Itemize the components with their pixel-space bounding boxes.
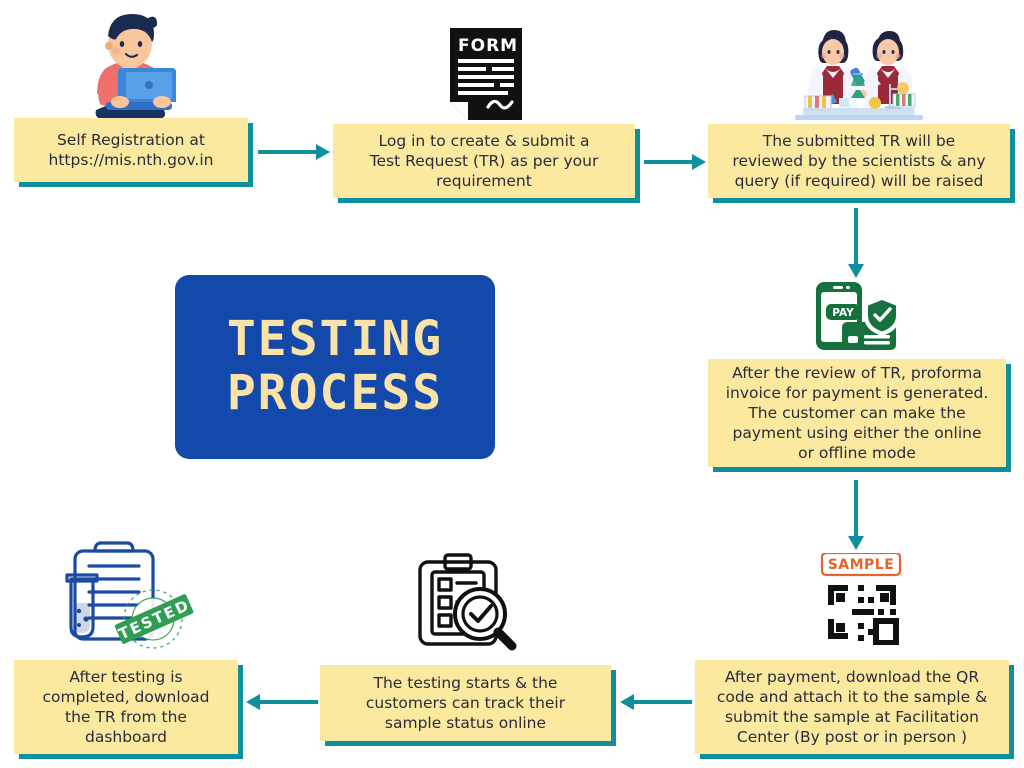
step-box-login-create-tr[interactable]: Log in to create & submit a Test Request… <box>333 124 635 198</box>
page-title: TESTING PROCESS <box>175 275 495 459</box>
clipboard-magnifier-icon <box>412 552 522 656</box>
arrow-step1-to-step2 <box>258 142 332 162</box>
scientists-in-lab-illustration <box>789 14 929 122</box>
sample-qr-code-icon: SAMPLE <box>818 553 906 645</box>
svg-text:FORM: FORM <box>458 36 518 56</box>
svg-text:SAMPLE: SAMPLE <box>828 557 895 573</box>
arrow-step5-to-step6 <box>620 692 692 712</box>
arrow-step6-to-step7 <box>246 692 318 712</box>
arrow-step2-to-step3 <box>644 152 708 172</box>
step-box-proforma-invoice[interactable]: After the review of TR, proforma invoice… <box>708 359 1006 467</box>
step-box-testing-track[interactable]: The testing starts & the customers can t… <box>320 665 611 741</box>
page-title-line-2: PROCESS <box>227 367 443 421</box>
person-with-laptop-illustration <box>66 6 194 124</box>
step-box-download-tr[interactable]: After testing is completed, download the… <box>14 660 238 754</box>
arrow-step3-to-step4 <box>845 208 867 280</box>
testing-process-flowchart: FORM <box>0 0 1024 768</box>
tested-clipboard-icon: TESTED <box>57 535 205 659</box>
step-box-self-registration[interactable]: Self Registration at https://mis.nth.gov… <box>14 118 248 182</box>
arrow-step4-to-step5 <box>845 480 867 552</box>
step-box-tr-review[interactable]: The submitted TR will be reviewed by the… <box>708 124 1010 198</box>
svg-text:PAY: PAY <box>832 307 854 319</box>
page-title-line-1: TESTING <box>227 313 443 367</box>
step-box-qr-sample-submit[interactable]: After payment, download the QR code and … <box>695 660 1009 754</box>
form-document-icon: FORM <box>450 28 522 120</box>
mobile-payment-icon: PAY <box>812 280 906 354</box>
